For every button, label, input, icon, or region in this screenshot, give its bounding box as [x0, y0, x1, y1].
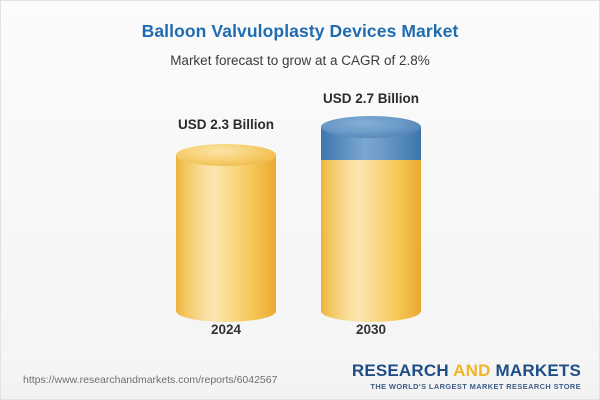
market-forecast-infographic: Balloon Valvuloplasty Devices Market Mar…: [0, 0, 600, 400]
chart-plot-area: USD 2.3 Billion 2024 USD 2.7 Billion: [1, 89, 600, 339]
data-label-2024: USD 2.3 Billion: [178, 117, 274, 132]
source-url[interactable]: https://www.researchandmarkets.com/repor…: [23, 374, 277, 386]
data-label-2030: USD 2.7 Billion: [323, 91, 419, 106]
chart-header: Balloon Valvuloplasty Devices Market Mar…: [1, 1, 599, 68]
logo-word-research: RESEARCH: [352, 361, 449, 380]
bar-segment-growth-2030: [321, 116, 421, 160]
axis-label-2024: 2024: [211, 322, 241, 337]
axis-label-2030: 2030: [356, 322, 386, 337]
chart-title: Balloon Valvuloplasty Devices Market: [1, 21, 599, 42]
research-and-markets-logo[interactable]: RESEARCH AND MARKETS THE WORLD'S LARGEST…: [352, 362, 581, 391]
bar-segment-base-2030: [321, 149, 421, 311]
cylinder-2030: [321, 116, 421, 311]
logo-word-and: AND: [453, 361, 490, 380]
chart-subtitle: Market forecast to grow at a CAGR of 2.8…: [1, 42, 599, 68]
chart-footer: https://www.researchandmarkets.com/repor…: [1, 351, 600, 399]
logo-word-markets: MARKETS: [496, 361, 581, 380]
cylinder-top-cap: [176, 144, 276, 166]
logo-wordmark: RESEARCH AND MARKETS: [352, 362, 581, 380]
bar-group-2030: USD 2.7 Billion 2030: [321, 115, 421, 311]
cylinder-top-cap: [321, 116, 421, 138]
logo-tagline: THE WORLD'S LARGEST MARKET RESEARCH STOR…: [352, 380, 581, 391]
cylinder-body: [176, 155, 276, 311]
cylinder-2024: [176, 144, 276, 311]
cylinder-body: [321, 160, 421, 311]
bar-segment-base-2024: [176, 144, 276, 311]
bar-group-2024: USD 2.3 Billion 2024: [176, 141, 276, 311]
